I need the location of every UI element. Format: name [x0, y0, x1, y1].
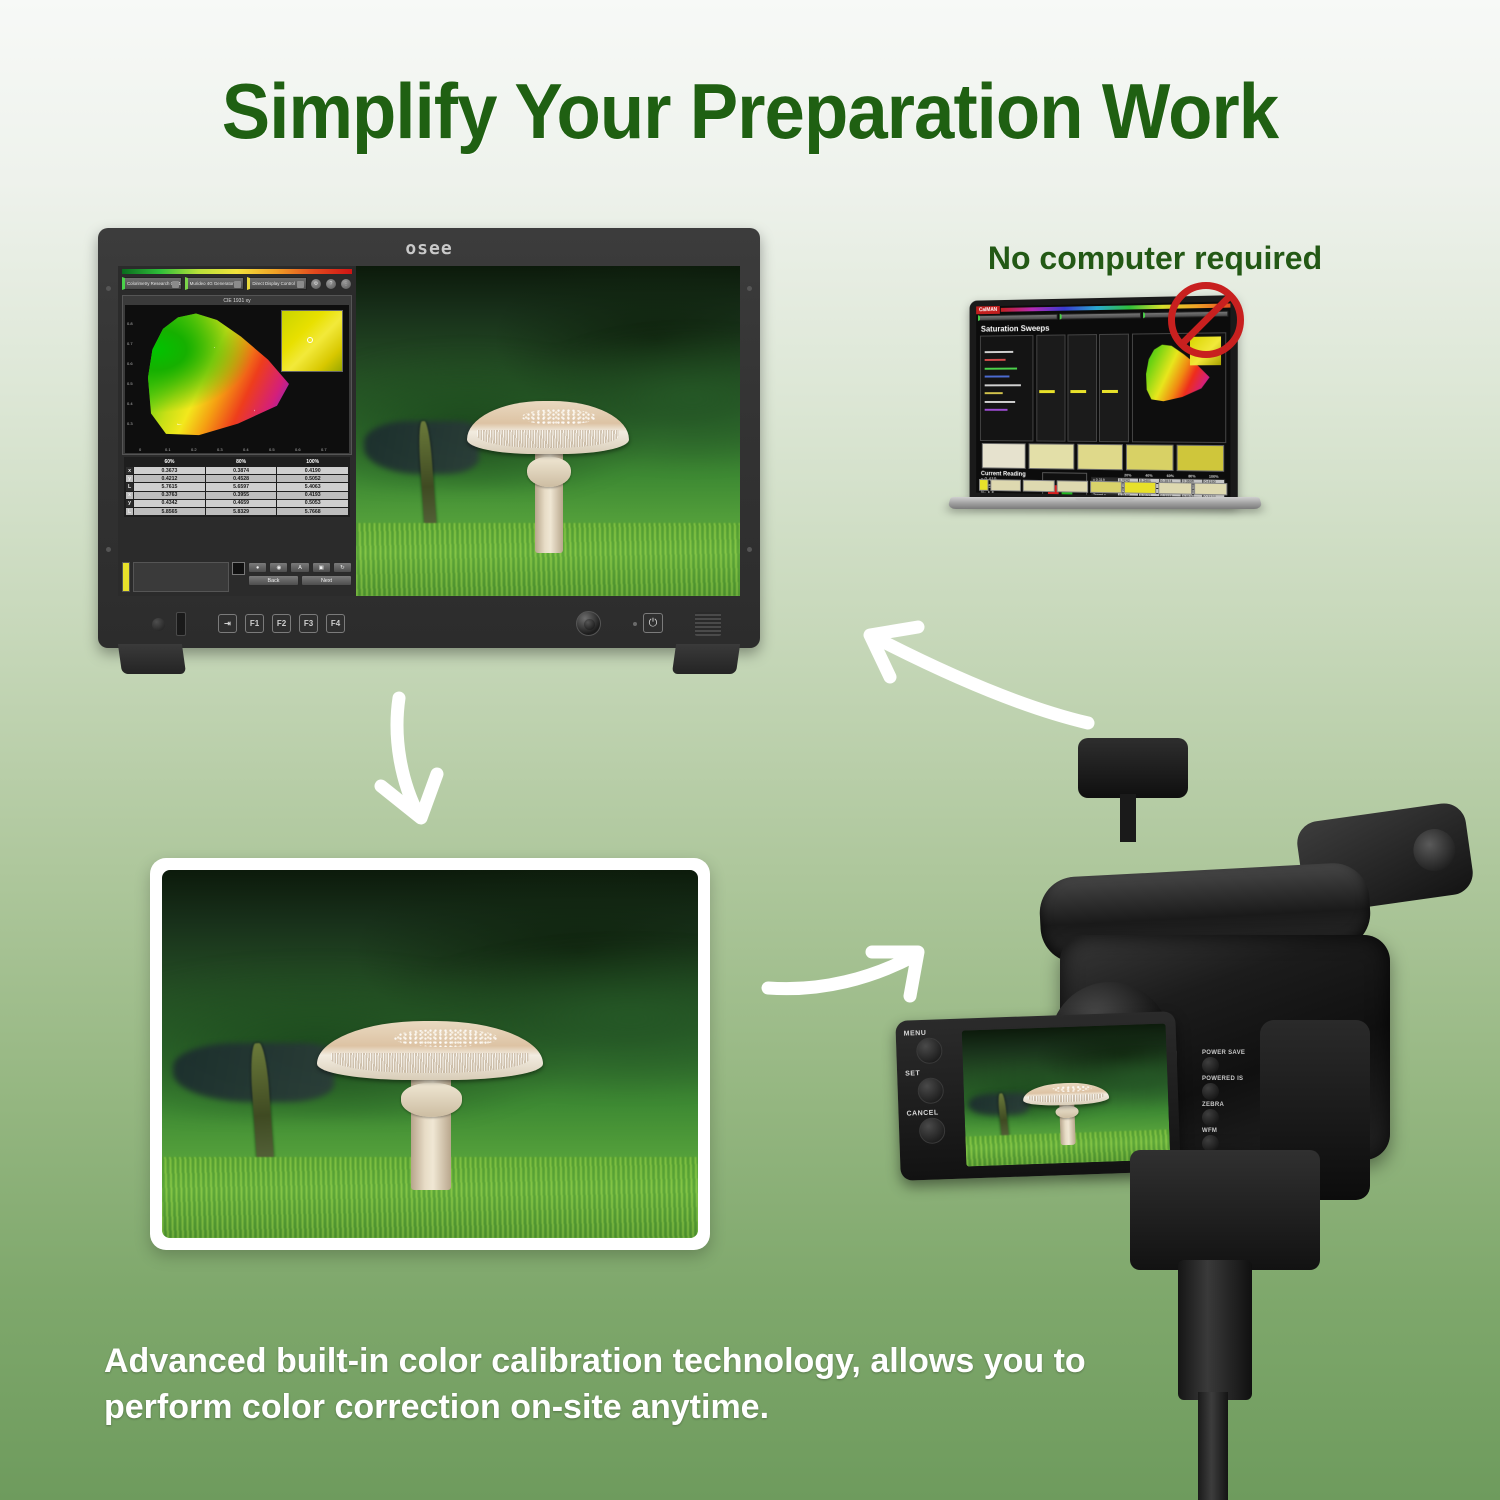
sweep-grid-3 — [1099, 334, 1129, 443]
cell: 5.6597 — [205, 483, 277, 491]
cancel-knob[interactable] — [919, 1117, 946, 1144]
cell: 0.4190 — [277, 467, 349, 475]
toolbar-icon-2[interactable]: ◉ — [269, 562, 288, 573]
menu-knob[interactable] — [916, 1037, 943, 1064]
camera-side-buttons: POWER SAVE POWERED IS ZEBRA WFM — [1202, 1050, 1262, 1154]
cie-y-tick-2: 0.6 — [127, 361, 133, 366]
monitor-bezel-controls: ⇥ F1 F2 F3 F4 ⏻ — [98, 598, 760, 648]
cell: 5.7668 — [277, 507, 349, 515]
power-save-button[interactable]: POWER SAVE — [1202, 1050, 1262, 1074]
cie-x-tick-4: 0.4 — [243, 447, 249, 452]
patch — [990, 479, 1021, 491]
gear-icon[interactable]: ⚙ — [310, 278, 322, 290]
mushroom-ring — [401, 1083, 463, 1116]
f1-button[interactable]: F1 — [245, 614, 264, 633]
prohibition-icon — [1168, 282, 1244, 358]
cie-1931-chart: 0.8 0.7 0.6 0.5 0.4 0.3 0 0.1 0.2 0.3 0.… — [125, 305, 349, 453]
caption-text: Advanced built-in color calibration tech… — [104, 1338, 1104, 1430]
cap-specks — [1052, 1085, 1092, 1093]
cie-y-tick-3: 0.5 — [127, 381, 133, 386]
cell: 0.3874 — [205, 467, 277, 475]
rotary-knob[interactable] — [576, 611, 601, 636]
next-button[interactable]: Next — [301, 575, 352, 586]
cie-chart-box: CIE 1931 xy 0.8 0.7 0.6 0.5 0.4 0.3 0 0.… — [122, 295, 352, 455]
cell: 0.5052 — [277, 475, 349, 483]
calman-logo: CalMAN — [976, 306, 1000, 314]
screw-bottom-right — [747, 547, 752, 552]
measurement-table: 60% 80% 100% x 0.3673 0.3874 0.4190 y — [124, 457, 350, 517]
color-corrected-photo-frame — [150, 858, 710, 1250]
microphone-stem — [1120, 794, 1136, 842]
toolbar-icon-4[interactable]: ▣ — [312, 562, 331, 573]
cell: 0.3673 — [134, 467, 206, 475]
calibration-software-pane: Colorimetry Research CR-100 Murideo 4G G… — [118, 266, 356, 596]
f3-button[interactable]: F3 — [299, 614, 318, 633]
generator-dropdown[interactable]: Murideo 4G Generator — [185, 277, 245, 290]
back-button[interactable]: Back — [248, 575, 299, 586]
col-head-100: 100% — [277, 458, 349, 467]
cie-y-tick-5: 0.3 — [127, 421, 133, 426]
cell: 5.4063 — [277, 483, 349, 491]
set-label: SET — [905, 1069, 961, 1078]
patch-swatch — [1077, 444, 1123, 471]
col-head-0 — [126, 458, 134, 467]
table-row: L 5.8565 5.8329 5.7668 — [126, 507, 349, 515]
monitor-body: osee Colorimetry Research CR-100 Murideo… — [98, 228, 760, 648]
patch-swatch — [982, 443, 1026, 469]
microphone-mount — [1078, 738, 1188, 798]
patch — [1023, 480, 1054, 492]
display-control-dropdown[interactable]: Direct Display Control — [247, 277, 307, 290]
active-patch — [979, 479, 988, 491]
cap-specks — [522, 409, 596, 425]
table-header-row: 60% 80% 100% — [126, 458, 349, 467]
tripod-leg — [1198, 1392, 1228, 1500]
mushroom-scene — [162, 870, 698, 1238]
cell: 5.8329 — [205, 507, 277, 515]
patch — [1124, 481, 1157, 494]
wfm-label: WFM — [1202, 1128, 1217, 1134]
cie-y-tick-0: 0.8 — [127, 321, 133, 326]
sweep-grid-2 — [1067, 334, 1097, 442]
arrow-monitor-to-photo — [355, 690, 485, 830]
help-icon[interactable]: ? — [325, 278, 337, 290]
cie-x-tick-7: 0.7 — [321, 447, 327, 452]
power-save-label: POWER SAVE — [1202, 1050, 1245, 1056]
sweep-grid-1 — [1036, 334, 1065, 441]
software-toolbar: Colorimetry Research CR-100 Murideo 4G G… — [118, 274, 356, 293]
table-row: x 0.3763 0.3955 0.4193 — [126, 491, 349, 499]
powered-is-label: POWERED IS — [1202, 1076, 1243, 1082]
cell: 5.8565 — [134, 507, 206, 515]
patch-swatch-row — [976, 443, 1230, 472]
power-led — [633, 622, 637, 626]
function-key-row: ⇥ F1 F2 F3 F4 — [218, 614, 345, 633]
cell: 0.3955 — [205, 491, 277, 499]
cie-y-tick-4: 0.4 — [127, 401, 133, 406]
patch-swatch — [1126, 444, 1173, 471]
cap-specks — [394, 1029, 498, 1047]
patch-swatch — [1029, 443, 1074, 469]
f2-button[interactable]: F2 — [272, 614, 291, 633]
cie-x-tick-2: 0.2 — [191, 447, 197, 452]
cie-x-tick-1: 0.1 — [165, 447, 171, 452]
table-row: x 0.3673 0.3874 0.4190 — [126, 467, 349, 475]
tripod-column — [1178, 1260, 1252, 1400]
cell: 0.4528 — [205, 475, 277, 483]
patch-swatch — [1176, 445, 1224, 472]
screw-bottom-left — [106, 547, 111, 552]
lcd-preview-image — [962, 1024, 1171, 1167]
set-knob[interactable] — [917, 1077, 944, 1104]
row-label: y — [126, 475, 134, 483]
cie-x-tick-5: 0.5 — [269, 447, 275, 452]
monitor-live-picture — [356, 266, 740, 596]
monitor-screen: Colorimetry Research CR-100 Murideo 4G G… — [118, 266, 740, 596]
monitor-stand-right — [672, 644, 740, 674]
card-slot — [176, 612, 186, 636]
table-row: y 0.4342 0.4659 0.5053 — [126, 499, 349, 507]
color-corrected-photo — [162, 870, 698, 1238]
mushroom-ring — [527, 457, 571, 487]
row-label: L — [126, 483, 134, 491]
row-label: L — [126, 507, 134, 515]
cell: 5.7615 — [134, 483, 206, 491]
menu-label: MENU — [904, 1029, 960, 1038]
wfm-button[interactable]: WFM — [1202, 1128, 1262, 1152]
toolbar-icon-3[interactable]: A — [290, 562, 309, 573]
pattern-thumbnail — [232, 562, 245, 575]
cancel-label: CANCEL — [906, 1109, 962, 1118]
cell: 0.5053 — [277, 499, 349, 507]
cie-y-tick-1: 0.7 — [127, 341, 133, 346]
meter-dropdown[interactable]: Colorimetry Research CR-100 — [122, 277, 182, 290]
row-label: x — [126, 467, 134, 475]
osee-monitor: osee Colorimetry Research CR-100 Murideo… — [98, 228, 760, 648]
patch — [1090, 481, 1122, 494]
color-swatch — [122, 562, 130, 592]
osee-logo: osee — [405, 238, 452, 259]
patch — [1056, 480, 1088, 492]
toolbar-icon-1[interactable]: ● — [248, 562, 267, 573]
cell: 0.3763 — [134, 491, 206, 499]
row-label: y — [126, 499, 134, 507]
table-row: L 5.7615 5.6597 5.4063 — [126, 483, 349, 491]
cie-x-tick-0: 0 — [139, 447, 141, 452]
cie-x-tick-6: 0.6 — [295, 447, 301, 452]
monitor-stand-left — [118, 644, 186, 674]
table-row: y 0.4212 0.4528 0.5052 — [126, 475, 349, 483]
tripod-head — [1130, 1150, 1320, 1270]
cie-zoom-inset — [281, 310, 343, 372]
power-icon[interactable]: ⏻ — [643, 613, 663, 633]
toolbar-icon-5[interactable]: ↻ — [333, 562, 352, 573]
mushroom-scene — [962, 1024, 1171, 1167]
patch — [1159, 482, 1192, 495]
sensor-icon — [152, 618, 165, 631]
cie-chart-title: CIE 1931 xy — [125, 298, 349, 304]
info-icon[interactable]: ⋮ — [340, 278, 352, 290]
row-label: x — [126, 491, 134, 499]
col-head-60: 60% — [134, 458, 206, 467]
sweep-grid-group — [1036, 334, 1129, 443]
mushroom-scene — [356, 266, 740, 596]
zebra-button[interactable]: ZEBRA — [1202, 1102, 1262, 1126]
input-icon[interactable]: ⇥ — [218, 614, 237, 633]
cell: 0.4342 — [134, 499, 206, 507]
no-computer-label: No computer required — [955, 240, 1355, 277]
screw-top-right — [747, 286, 752, 291]
powered-is-button[interactable]: POWERED IS — [1202, 1076, 1262, 1100]
screw-top-left — [106, 286, 111, 291]
software-footer: ● ◉ A ▣ ↻ Back Next — [122, 562, 352, 592]
cell: 0.4659 — [205, 499, 277, 507]
page-title: Simplify Your Preparation Work — [53, 66, 1448, 157]
f4-button[interactable]: F4 — [326, 614, 345, 633]
patch-preview — [133, 562, 229, 592]
col-head-80: 80% — [205, 458, 277, 467]
cell: 0.4212 — [134, 475, 206, 483]
lcd-control-column: MENU SET CANCEL — [904, 1029, 965, 1171]
laptop-base — [947, 497, 1263, 509]
cie-x-tick-3: 0.3 — [217, 447, 223, 452]
zebra-label: ZEBRA — [1202, 1102, 1224, 1108]
sweep-bar-chart — [980, 335, 1033, 442]
speaker-grille — [695, 612, 721, 636]
footer-buttons: ● ◉ A ▣ ↻ Back Next — [248, 562, 352, 592]
cell: 0.4193 — [277, 491, 349, 499]
patch — [1194, 483, 1228, 496]
